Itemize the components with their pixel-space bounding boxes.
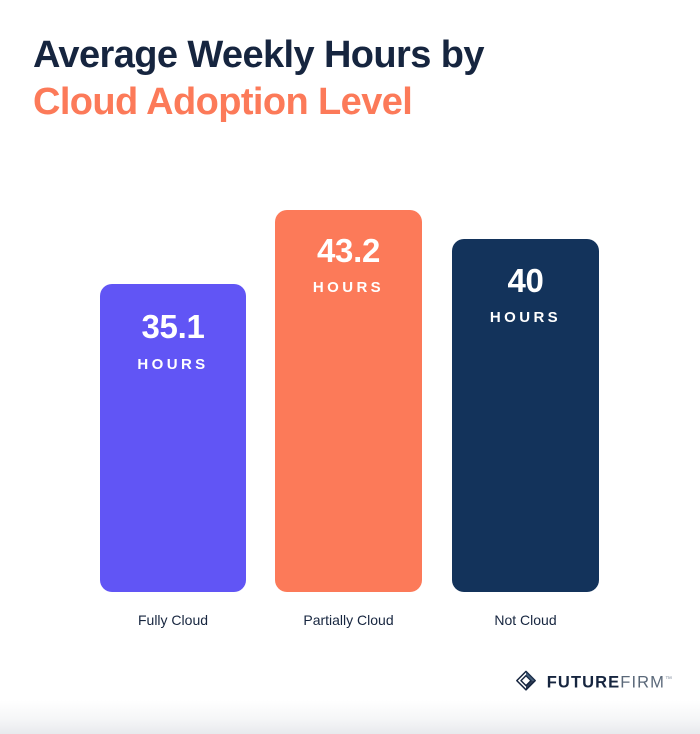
category-label-fully-cloud: Fully Cloud bbox=[100, 611, 246, 629]
bar-unit-partially-cloud: HOURS bbox=[275, 279, 422, 297]
diamond-cube-icon bbox=[514, 669, 538, 693]
brand-logo-text: FUTUREFIRM™ bbox=[547, 670, 672, 693]
chart-title: Average Weekly Hours by Cloud Adoption L… bbox=[33, 32, 653, 126]
trademark-symbol: ™ bbox=[665, 676, 672, 683]
bar-value-fully-cloud: 35.1 bbox=[100, 309, 246, 345]
bar-unit-not-cloud: HOURS bbox=[452, 309, 599, 327]
chart-title-line-1: Average Weekly Hours by bbox=[33, 32, 653, 79]
bar-unit-fully-cloud: HOURS bbox=[100, 356, 246, 374]
bar-value-partially-cloud: 43.2 bbox=[275, 233, 422, 269]
card-bottom-shadow bbox=[0, 700, 700, 734]
category-label-partially-cloud: Partially Cloud bbox=[275, 611, 422, 629]
bar-value-not-cloud: 40 bbox=[452, 263, 599, 299]
brand-name-secondary: FIRM bbox=[620, 673, 665, 691]
category-label-not-cloud: Not Cloud bbox=[452, 611, 599, 629]
brand-logo: FUTUREFIRM™ bbox=[514, 668, 672, 694]
chart-title-line-2: Cloud Adoption Level bbox=[33, 79, 653, 126]
infographic-card: Average Weekly Hours by Cloud Adoption L… bbox=[0, 0, 700, 734]
brand-name-primary: FUTURE bbox=[547, 673, 621, 691]
